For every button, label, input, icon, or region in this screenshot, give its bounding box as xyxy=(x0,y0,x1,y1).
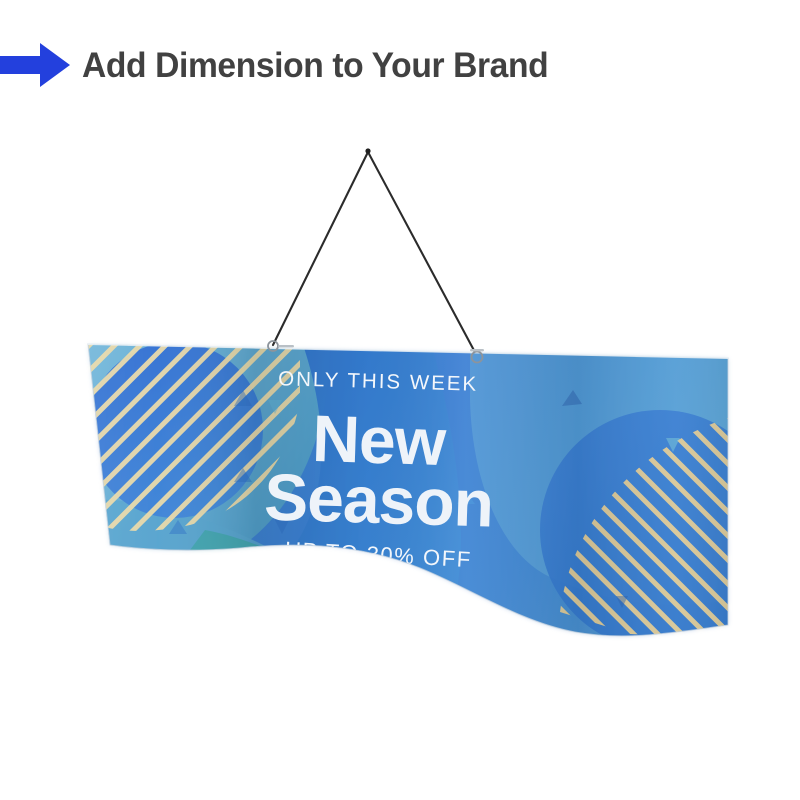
cable-right xyxy=(368,152,477,356)
banner-headline-line2: Season xyxy=(263,459,494,540)
hanging-cables xyxy=(273,148,477,356)
hook-clip-right xyxy=(470,349,484,351)
product-image: ONLY THIS WEEK New Season UP TO 30% OFF xyxy=(0,100,800,800)
banner-panel: ONLY THIS WEEK New Season UP TO 30% OFF xyxy=(60,330,780,670)
hook-clip-left xyxy=(278,345,294,347)
arrow-right-icon xyxy=(0,41,72,89)
page-root: Add Dimension to Your Brand xyxy=(0,0,800,800)
ceiling-anchor-point xyxy=(365,148,370,153)
header: Add Dimension to Your Brand xyxy=(0,34,800,96)
cable-left xyxy=(273,152,368,345)
page-title: Add Dimension to Your Brand xyxy=(82,48,548,83)
